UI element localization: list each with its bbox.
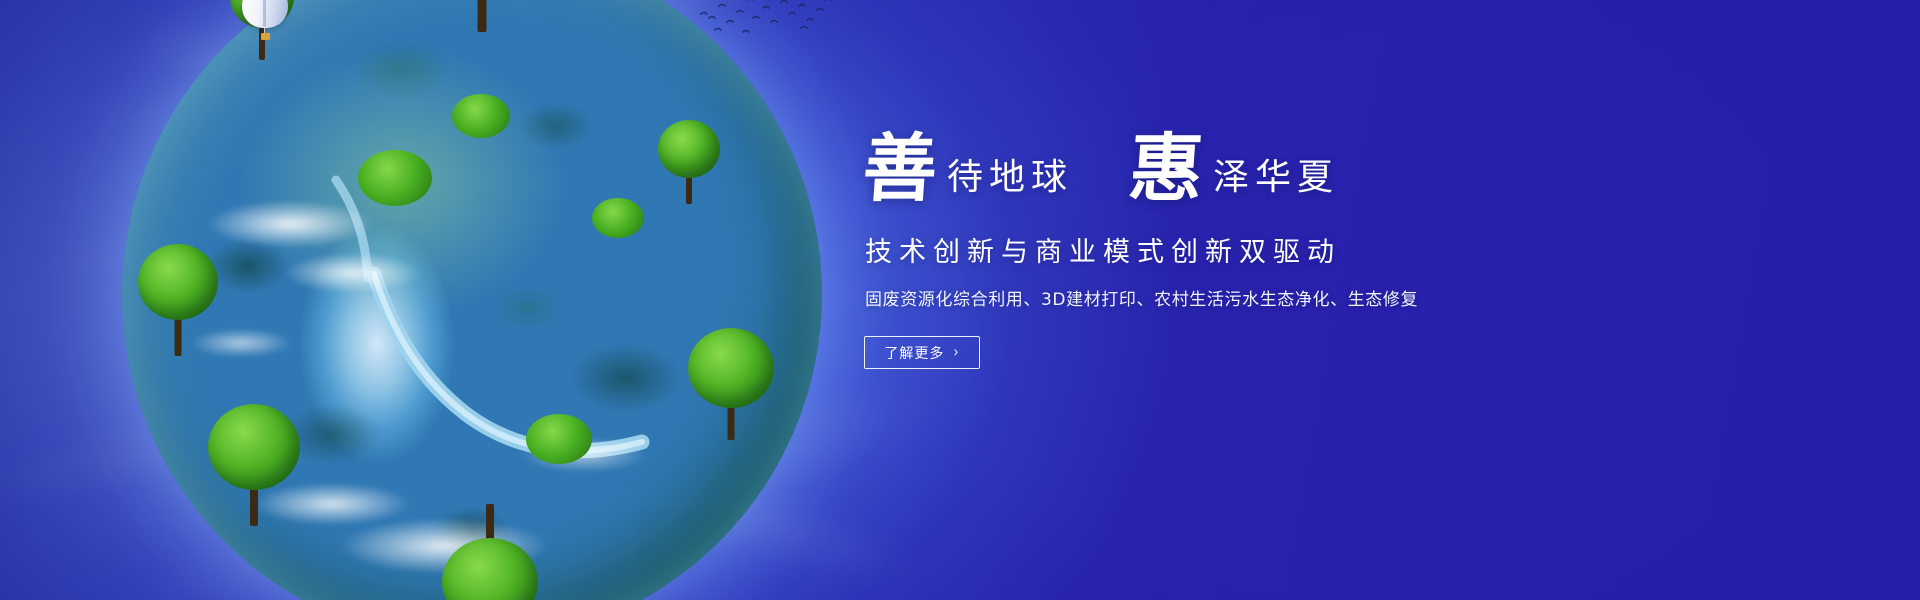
hero-copy: 善 待地球 惠 泽华夏 技术创新与商业模式创新双驱动 固废资源化综合利用、3D建…	[863, 128, 1623, 369]
hot-air-balloon-icon	[242, 0, 288, 40]
learn-more-button[interactable]: 了解更多 ›	[864, 336, 980, 369]
headline-rest-2: 泽华夏	[1213, 160, 1339, 196]
tree-top	[422, 0, 542, 28]
hero-description: 固废资源化综合利用、3D建材打印、农村生活污水生态净化、生态修复	[865, 285, 1623, 310]
headline-brush-2: 惠	[1126, 132, 1205, 206]
headline-rest-1: 待地球	[947, 160, 1073, 196]
tree-left	[138, 244, 218, 354]
bush-lower	[526, 414, 592, 464]
bush-center-2	[452, 94, 510, 138]
bush-right	[592, 198, 644, 238]
hero-headline: 善 待地球 惠 泽华夏	[863, 128, 1623, 202]
tree-bottom	[442, 504, 538, 600]
tree-lower-left	[208, 404, 300, 524]
hero-banner: 善 待地球 惠 泽华夏 技术创新与商业模式创新双驱动 固废资源化综合利用、3D建…	[0, 0, 1920, 600]
headline-brush-1: 善	[860, 132, 939, 206]
bush-center	[358, 150, 432, 206]
learn-more-label: 了解更多	[884, 343, 944, 363]
little-planet-artwork	[122, 0, 822, 600]
tree-right	[688, 328, 774, 440]
bird-flock-icon	[697, 0, 837, 48]
hero-subtitle: 技术创新与商业模式创新双驱动	[865, 230, 1623, 269]
chevron-right-icon: ›	[953, 343, 959, 362]
tree-upper-right	[658, 120, 720, 204]
